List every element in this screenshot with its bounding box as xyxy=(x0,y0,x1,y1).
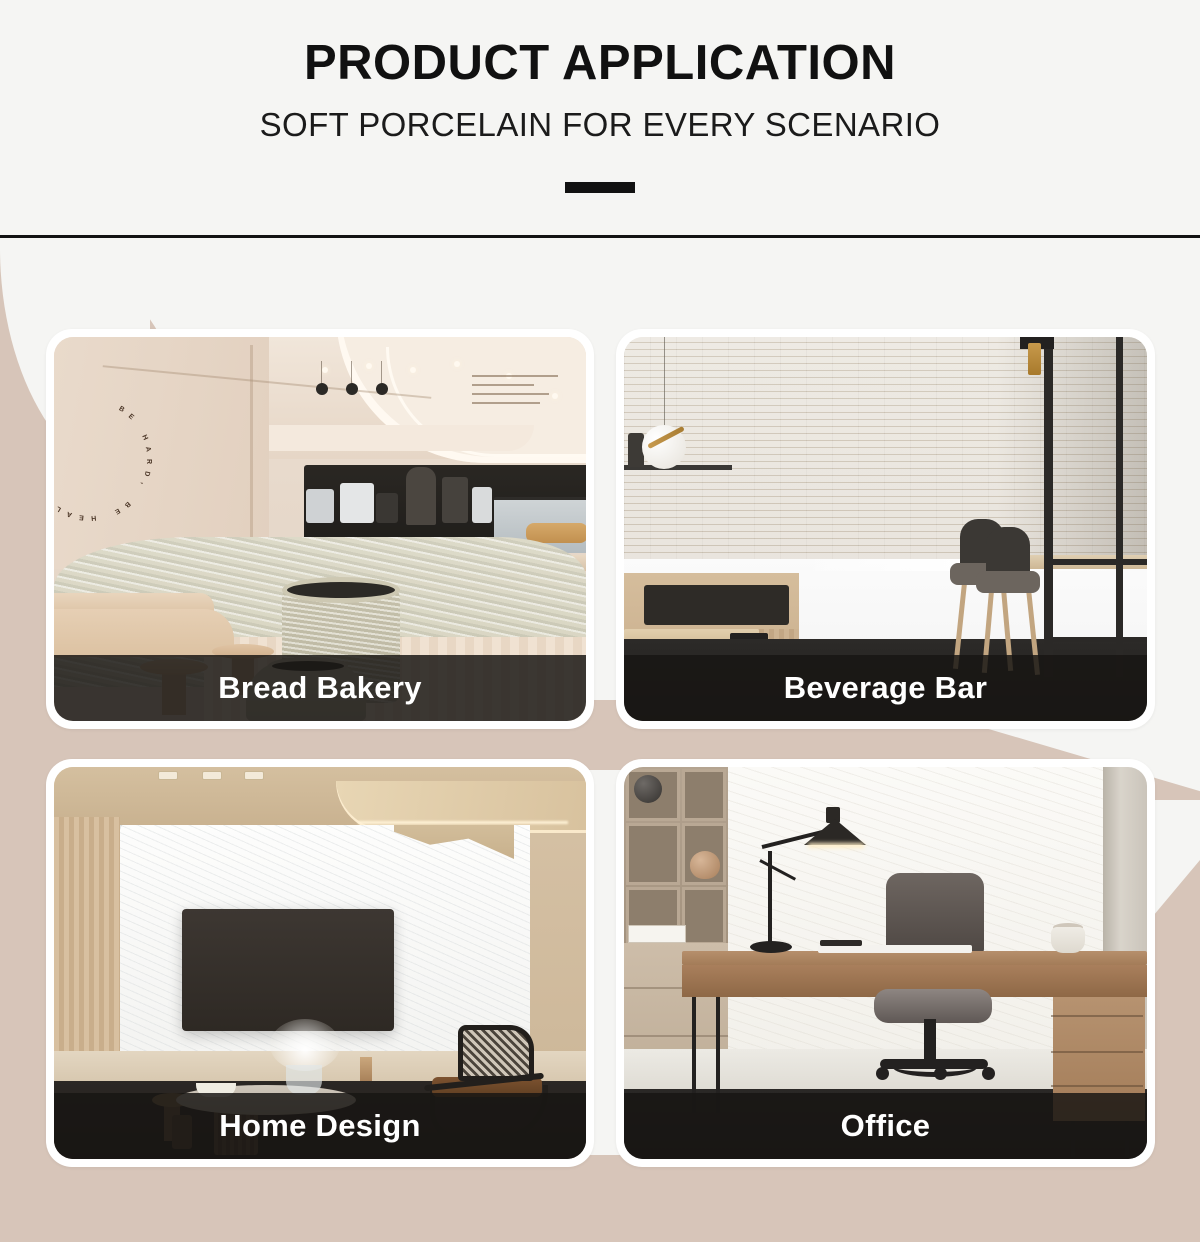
bakery-wall-text-char: E xyxy=(127,413,135,421)
bakery-ceiling-spotlight xyxy=(366,363,372,369)
page-subtitle: SOFT PORCELAIN FOR EVERY SCENARIO xyxy=(0,107,1200,143)
bakery-coffee-machine xyxy=(340,483,374,523)
office-desk-mat xyxy=(820,940,862,946)
home-chair-backrest xyxy=(458,1025,534,1081)
card-caption-label: Office xyxy=(841,1108,931,1144)
office-pedestal-drawer-line xyxy=(1051,1051,1143,1053)
bakery-wall-text-char: L xyxy=(55,504,62,512)
bakery-espresso-machine xyxy=(442,477,468,523)
bakery-ceiling-spotlight xyxy=(322,367,328,373)
bakery-wall-text-char: , xyxy=(139,481,146,486)
bar-gold-light-fixture xyxy=(1028,343,1041,375)
bakery-pendant-lamp xyxy=(316,383,328,395)
card-caption-label: Bread Bakery xyxy=(218,670,422,706)
office-decor-orb xyxy=(634,775,662,803)
office-chair-seat xyxy=(874,989,992,1023)
office-ceramic-pot xyxy=(690,851,720,879)
living-room-photo: Home Design xyxy=(54,767,586,1159)
office-chair-backrest xyxy=(886,873,984,955)
bakery-wall-text-char: E xyxy=(113,507,121,515)
home-candle-decor xyxy=(360,1057,372,1081)
bakery-wall-text-char: B xyxy=(123,500,131,509)
office-lamp-stem xyxy=(768,851,772,945)
home-downlight xyxy=(202,771,222,780)
office-chair-caster xyxy=(934,1067,947,1080)
card-caption-bar: Home Design xyxy=(54,1093,586,1159)
beverage-bar-photo: Beverage Bar xyxy=(624,337,1147,721)
bakery-menu-board xyxy=(472,375,582,429)
office-lamp-base xyxy=(750,941,792,953)
bakery-wall-text-char: B xyxy=(118,405,126,414)
bakery-wall-text-char: H xyxy=(140,434,148,441)
bar-wall-shadow xyxy=(997,337,1147,559)
page-title: PRODUCT APPLICATION xyxy=(0,38,1200,89)
bakery-wall-text-char: R xyxy=(145,459,152,464)
bar-pendant-cord xyxy=(664,337,665,427)
office-chair-caster xyxy=(876,1067,889,1080)
bakery-bench-seat xyxy=(54,609,234,657)
card-caption-bar: Office xyxy=(624,1093,1147,1159)
home-downlight xyxy=(244,771,264,780)
home-cove-light xyxy=(358,821,568,824)
office-shelf-cell xyxy=(682,887,726,945)
office-ceramic-cup xyxy=(1051,927,1085,953)
bar-booth-seat-back xyxy=(644,585,789,625)
page-header: PRODUCT APPLICATION SOFT PORCELAIN FOR E… xyxy=(0,0,1200,237)
bakery-pendant-lamp xyxy=(346,383,358,395)
application-card-home-design[interactable]: Home Design xyxy=(46,759,594,1167)
bar-metal-frame xyxy=(1044,559,1147,565)
bakery-equipment xyxy=(472,487,492,523)
bakery-coffee-machine xyxy=(306,489,334,523)
application-card-grid: BE HARD, BE HEALTHY xyxy=(0,238,1200,1242)
bakery-interior-photo: BE HARD, BE HEALTHY xyxy=(54,337,586,721)
bakery-wall-text-char: E xyxy=(79,513,84,520)
bakery-pendant-lamp xyxy=(376,383,388,395)
bakery-wall-text-char: A xyxy=(66,510,73,518)
office-chair-caster xyxy=(982,1067,995,1080)
office-pedestal-drawer-line xyxy=(1051,1085,1143,1087)
bakery-ceiling-spotlight xyxy=(410,367,416,373)
office-shelf-cell xyxy=(626,823,680,885)
bakery-wall-text-char: D xyxy=(143,470,151,476)
home-wall-mounted-tv xyxy=(182,909,394,1031)
office-pedestal-drawer-line xyxy=(1051,1015,1143,1017)
home-office-photo: Office xyxy=(624,767,1147,1159)
bakery-ceiling-spotlight xyxy=(454,361,460,367)
bar-metal-frame xyxy=(1116,337,1123,677)
office-lamp-cap xyxy=(826,807,840,823)
bakery-wall-text-char: A xyxy=(144,446,152,452)
card-caption-label: Home Design xyxy=(219,1108,420,1144)
home-glass-vase xyxy=(286,1065,322,1095)
bakery-drum-table-top xyxy=(282,577,400,603)
office-cabinet-drawer-line xyxy=(624,1035,728,1037)
office-lamp-glow xyxy=(808,843,864,848)
bakery-barista xyxy=(406,467,436,525)
header-divider xyxy=(0,235,1200,238)
office-paper-stack xyxy=(628,925,686,943)
accent-bar xyxy=(565,182,635,193)
home-downlight xyxy=(158,771,178,780)
card-caption-label: Beverage Bar xyxy=(784,670,988,706)
card-caption-bar: Bread Bakery xyxy=(54,655,586,721)
home-dried-flower-arrangement xyxy=(270,1019,340,1071)
office-keyboard xyxy=(818,945,972,953)
office-chair-base xyxy=(880,1059,988,1069)
office-desk-top xyxy=(682,951,1147,965)
application-card-bread-bakery[interactable]: BE HARD, BE HEALTHY xyxy=(46,329,594,729)
bakery-wall-text-char: H xyxy=(91,514,97,521)
application-card-beverage-bar[interactable]: Beverage Bar xyxy=(616,329,1155,729)
office-shelf-cell xyxy=(682,769,726,821)
application-card-office[interactable]: Office xyxy=(616,759,1155,1167)
card-caption-bar: Beverage Bar xyxy=(624,655,1147,721)
bakery-grinder xyxy=(376,493,398,523)
bar-metal-frame xyxy=(1044,337,1053,677)
bar-stool-seat xyxy=(976,571,1040,593)
bar-metal-frame xyxy=(1044,637,1147,642)
